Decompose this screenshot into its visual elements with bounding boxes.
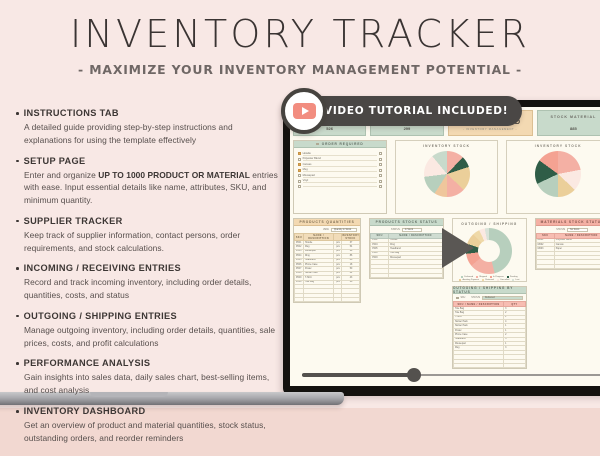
- status-filter[interactable]: STATUSNo Stock: [536, 226, 600, 233]
- table-row[interactable]: [536, 264, 600, 268]
- feature-title-text: INSTRUCTIONS TAB: [24, 108, 119, 120]
- feature-item: SETUP PAGEEnter and organize UP TO 1000 …: [10, 156, 282, 207]
- feature-title: SUPPLIER TRACKER: [10, 216, 282, 228]
- list-item[interactable]: Hoodie: [298, 151, 382, 157]
- checkbox-icon[interactable]: [379, 169, 382, 172]
- table-cell: [334, 298, 342, 302]
- table-header-cell: INVENTORY STOCK: [341, 234, 359, 241]
- feature-description: A detailed guide providing step-by-step …: [24, 120, 282, 147]
- feature-item: INVENTORY DASHBOARDGet an overview of pr…: [10, 406, 282, 445]
- bullet-icon: [16, 315, 19, 318]
- kpi-value: 885: [538, 126, 600, 131]
- checkbox-icon[interactable]: [298, 169, 301, 172]
- status-filter-label: STATUS: [556, 229, 565, 231]
- list-item-label: Vinyl: [303, 179, 378, 183]
- legend-item: Delivered: [461, 276, 473, 278]
- panel-header: PRODUCTS STOCK STATUS: [370, 219, 443, 226]
- checkbox-icon[interactable]: [298, 185, 301, 188]
- status-filter-value[interactable]: No Stock: [567, 228, 588, 232]
- status-filter[interactable]: SKUSTATUSDelivered: [453, 294, 526, 301]
- chart-legend: DeliveredShippedIn ProgressPendingAwaiti…: [453, 274, 526, 281]
- chart-title: INVENTORY STOCK: [507, 141, 600, 148]
- view-filter[interactable]: VIEWQuantity in Stock: [294, 226, 360, 233]
- feature-item: PERFORMANCE ANALYSISGain insights into s…: [10, 358, 282, 397]
- feature-description: Get an overview of product and material …: [24, 417, 282, 444]
- panel-header-label: ORDER REQUIRED: [322, 142, 364, 146]
- status-filter[interactable]: STATUSIn Stock: [370, 226, 443, 233]
- feature-title: INSTRUCTIONS TAB: [10, 108, 282, 120]
- dashboard-subtitle: - INVENTORY MANAGEMENT -: [449, 128, 532, 131]
- legend-swatch: [512, 279, 514, 281]
- checkbox-label: SKU: [461, 297, 466, 299]
- list-item[interactable]: Polyester Blend: [298, 157, 382, 163]
- list-item[interactable]: Mousepad: [298, 173, 382, 179]
- legend-item: Lost: [512, 279, 519, 281]
- products-stock-status-panel: PRODUCTS STOCK STATUSSTATUSIn StockSKUNA…: [369, 218, 444, 279]
- bullet-icon: [16, 410, 19, 413]
- view-filter-value[interactable]: Quantity in Stock: [331, 228, 357, 232]
- legend-swatch: [461, 276, 463, 278]
- legend-swatch: [507, 276, 509, 278]
- scrubber-fill: [302, 373, 416, 377]
- products-quantities-panel: PRODUCTS QUANTITIESVIEWQuantity in Stock…: [293, 218, 361, 303]
- materials-stock-status-panel: MATERIALS STOCK STATUSSTATUSNo StockSKUN…: [535, 218, 600, 270]
- video-progress-scrubber[interactable]: [302, 373, 600, 377]
- legend-swatch: [459, 279, 461, 281]
- feature-item: OUTGOING / SHIPPING ENTRIESManage outgoi…: [10, 311, 282, 350]
- chart-title: INVENTORY STOCK: [396, 141, 498, 148]
- feature-title-text: INVENTORY DASHBOARD: [24, 406, 146, 418]
- checkbox-icon[interactable]: [379, 174, 382, 177]
- outgoing-by-status-table: SKU / NAME / DESCRIPTIONQTYTote Bag3Tote…: [453, 301, 526, 368]
- kpi-label: STOCK MATERIAL: [538, 115, 600, 119]
- legend-item: Shipped: [476, 276, 487, 278]
- checkbox-icon[interactable]: [298, 163, 301, 166]
- list-item[interactable]: [298, 184, 382, 190]
- bullet-icon: [16, 220, 19, 223]
- table-cell: [295, 298, 304, 302]
- pie-chart: [424, 151, 470, 197]
- header: INVENTORY TRACKER - MAXIMIZE YOUR INVENT…: [0, 14, 600, 77]
- status-filter-value[interactable]: Delivered: [482, 296, 523, 300]
- bullet-icon: [16, 160, 19, 163]
- youtube-icon-triangle: [302, 107, 309, 115]
- table-row[interactable]: [453, 363, 525, 367]
- feature-description: Manage outgoing inventory, including ord…: [24, 322, 282, 349]
- feature-list: INSTRUCTIONS TABA detailed guide providi…: [10, 108, 282, 444]
- legend-item: In Progress: [490, 276, 504, 278]
- page-title: INVENTORY TRACKER: [0, 14, 600, 55]
- feature-title: INVENTORY DASHBOARD: [10, 406, 282, 418]
- feature-title-text: SETUP PAGE: [24, 156, 86, 168]
- table-cell: [371, 273, 389, 277]
- feature-title: OUTGOING / SHIPPING ENTRIES: [10, 311, 282, 323]
- checkbox-icon[interactable]: [298, 180, 301, 183]
- feature-description: Keep track of supplier information, cont…: [24, 227, 282, 254]
- feature-title: INCOMING / RECEIVING ENTRIES: [10, 263, 282, 275]
- list-item-label: Polyester Blend: [303, 157, 378, 161]
- legend-item: Returned: [482, 279, 494, 281]
- list-item[interactable]: Canvas: [298, 162, 382, 168]
- legend-item: Pending: [507, 276, 518, 278]
- table-row[interactable]: [371, 273, 443, 277]
- feature-item: INCOMING / RECEIVING ENTRIESRecord and t…: [10, 263, 282, 302]
- feature-description: Record and track incoming inventory, inc…: [24, 275, 282, 302]
- legend-swatch: [490, 276, 492, 278]
- legend-swatch: [497, 279, 499, 281]
- table-row[interactable]: [295, 298, 360, 302]
- feature-title-text: INCOMING / RECEIVING ENTRIES: [24, 263, 181, 275]
- table-header-cell: NAME / DESCRIPTION: [303, 234, 333, 241]
- chart-title: OUTGOING / SHIPPING: [453, 219, 526, 226]
- view-filter-label: VIEW: [323, 229, 329, 231]
- play-triangle-icon[interactable]: [442, 228, 474, 268]
- table-header-cell: SKU: [295, 234, 304, 241]
- panel-header: ORDER REQUIRED: [294, 141, 386, 148]
- outgoing-by-status-panel: OUTGOING / SHIPPING BY STATUSSKUSTATUSDe…: [452, 286, 527, 369]
- table-cell: [554, 264, 600, 268]
- dashboard-row-2: ORDER REQUIREDHoodiePolyester BlendCanva…: [293, 140, 600, 214]
- status-filter-label: STATUS: [391, 229, 400, 231]
- order-required-list: HoodiePolyester BlendCanvasMugMousepadVi…: [294, 148, 386, 193]
- stock-status-column: PRODUCTS STOCK STATUSSTATUSIn StockSKUNA…: [369, 218, 444, 279]
- inventory-stock-chart-2: INVENTORY STOCK: [506, 140, 600, 214]
- bullet-icon: [16, 362, 19, 365]
- table-cell: [453, 363, 503, 367]
- checkbox-icon[interactable]: [379, 158, 382, 161]
- legend-item: Cancelled: [497, 279, 509, 281]
- feature-title-text: PERFORMANCE ANALYSIS: [24, 358, 151, 370]
- checkbox-icon[interactable]: [456, 297, 459, 300]
- page-subtitle: - MAXIMIZE YOUR INVENTORY MANAGEMENT POT…: [0, 62, 600, 77]
- panel-header: OUTGOING / SHIPPING BY STATUS: [453, 287, 526, 294]
- feature-title-text: OUTGOING / SHIPPING ENTRIES: [24, 311, 177, 323]
- feature-item: INSTRUCTIONS TABA detailed guide providi…: [10, 108, 282, 147]
- youtube-play-icon[interactable]: [281, 88, 327, 134]
- checkbox-icon[interactable]: [298, 174, 301, 177]
- list-item-label: Canvas: [303, 163, 378, 167]
- poster-root: INVENTORY TRACKER - MAXIMIZE YOUR INVENT…: [0, 0, 600, 456]
- checkbox-icon[interactable]: [316, 143, 319, 146]
- scrubber-handle[interactable]: [407, 368, 421, 382]
- checkbox-icon[interactable]: [379, 152, 382, 155]
- status-filter-label: STATUS: [471, 297, 480, 299]
- table-cell: [303, 298, 333, 302]
- bullet-icon: [16, 267, 19, 270]
- table-cell: [536, 264, 554, 268]
- list-item-label: Mug: [303, 168, 378, 172]
- products-quantities-table: SKUNAME / DESCRIPTIONINVENTORY STOCKP001…: [294, 233, 360, 302]
- panel-header: PRODUCTS QUANTITIES: [294, 219, 360, 226]
- order-required-panel: ORDER REQUIREDHoodiePolyester BlendCanva…: [293, 140, 387, 214]
- list-item-label: Hoodie: [303, 152, 378, 156]
- checkbox-icon[interactable]: [298, 158, 301, 161]
- feature-description: Gain insights into sales data, daily sal…: [24, 370, 282, 397]
- pie-chart: [535, 151, 581, 197]
- table-header-cell: [334, 234, 342, 241]
- bullet-icon: [16, 112, 19, 115]
- list-item-label: Mousepad: [303, 174, 378, 178]
- kpi-card[interactable]: STOCK MATERIAL885: [537, 110, 600, 136]
- products-stock-status-table: SKUNAME / DESCRIPTIONP001HoodieP004RingP…: [370, 233, 443, 278]
- table-cell: [389, 273, 443, 277]
- materials-stock-status-table: SKUNAME / DESCRIPTIONM001Polyester Blend…: [536, 233, 600, 269]
- checkbox-icon[interactable]: [379, 180, 382, 183]
- youtube-icon-body: [293, 103, 316, 119]
- feature-title: PERFORMANCE ANALYSIS: [10, 358, 282, 370]
- feature-description: Enter and organize UP TO 1000 PRODUCT OR…: [24, 167, 282, 207]
- legend-item: Awaiting Payment: [459, 279, 479, 281]
- list-item-label: [303, 186, 378, 187]
- table-cell: [504, 363, 526, 367]
- status-filter-value[interactable]: In Stock: [402, 228, 422, 232]
- checkbox-icon[interactable]: [379, 185, 382, 188]
- feature-title-text: SUPPLIER TRACKER: [24, 216, 123, 228]
- feature-title: SETUP PAGE: [10, 156, 282, 168]
- table-cell: [341, 298, 359, 302]
- feature-item: SUPPLIER TRACKERKeep track of supplier i…: [10, 216, 282, 255]
- video-tutorial-label: VIDEO TUTORIAL INCLUDED!: [324, 105, 508, 117]
- legend-swatch: [482, 279, 484, 281]
- checkbox-icon[interactable]: [298, 152, 301, 155]
- list-item[interactable]: Vinyl: [298, 179, 382, 185]
- panel-header: MATERIALS STOCK STATUS: [536, 219, 600, 226]
- kpi-value: 299: [371, 126, 442, 131]
- list-item[interactable]: Mug: [298, 168, 382, 174]
- checkbox-icon[interactable]: [379, 163, 382, 166]
- inventory-stock-chart-1: INVENTORY STOCK: [395, 140, 499, 214]
- legend-swatch: [476, 276, 478, 278]
